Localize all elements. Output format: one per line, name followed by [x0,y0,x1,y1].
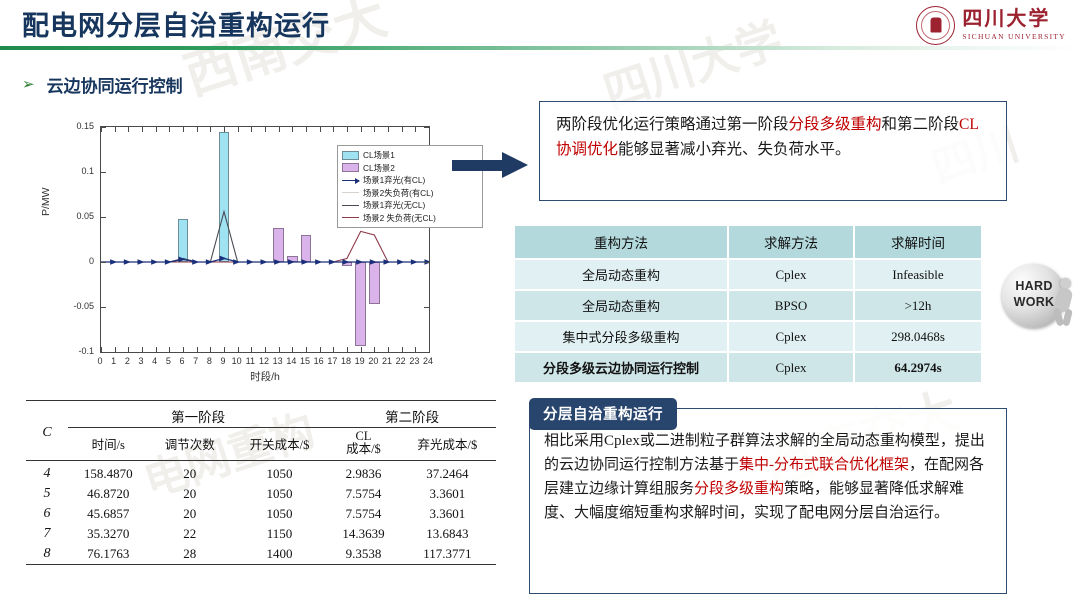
col-header-method: 重构方法 [514,225,728,259]
x-tick [101,347,102,352]
cell-adjust: 20 [148,464,230,484]
pushing-figure-icon [1054,278,1076,326]
cell-solver: Cplex [728,321,854,352]
chart-x-axis-label: 时段/h [100,369,430,384]
table-row: 735.327022115014.363913.6843 [26,524,496,544]
x-tick [224,347,225,352]
x-tick [156,347,157,352]
x-tick [128,347,129,352]
column-header-row: 时间/s 调节次数 开关成本/$ CL 成本/$ 弃光成本/$ [26,428,496,461]
col-header-switch-cost: 开关成本/$ [231,428,328,461]
stage-results-table: C 第一阶段 第二阶段 时间/s 调节次数 开关成本/$ CL 成本/$ 弃光成… [26,400,496,568]
x-tick [115,347,116,352]
x-tick [115,127,116,132]
legend-label: CL场景2 [363,162,395,174]
line-arrow-marker [411,259,418,265]
x-tick [265,347,266,352]
line-arrow-marker [151,259,158,265]
x-tick [306,127,307,132]
cell-time: 158.4870 [68,464,148,484]
stage-results-body: 4158.48702010502.983637.2464546.87202010… [26,464,496,565]
page-title: 配电网分层自治重构运行 [22,4,330,43]
cell-time: 64.2974s [854,352,982,383]
line-arrow-marker [315,259,322,265]
cell-time: 298.0468s [854,321,982,352]
logo-name-en: SICHUAN UNIVERSITY [962,32,1066,41]
col-header-time: 求解时间 [854,225,982,259]
bottom-text-seg-1: 集中-分布式联合优化框架 [739,457,909,473]
page-header: 配电网分层自治重构运行 四川大学 SICHUAN UNIVERSITY [0,0,1080,52]
top-conclusion-text: 两阶段优化运行策略通过第一阶段分段多级重构和第二阶段CL协调优化能够显著减小弃光… [556,112,992,162]
x-tick [251,127,252,132]
table-row: 645.68572010507.57543.3601 [26,504,496,524]
cell-time: >12h [854,290,982,321]
bottom-conclusion-text: 相比采用Cplex或二进制粒子群算法求解的全局动态重构模型，提出的云边协同运行控… [544,429,994,525]
legend-swatch [342,192,359,193]
y-tick [424,307,429,308]
x-tick [169,127,170,132]
cell-solver: BPSO [728,290,854,321]
legend-label: 场景2 失负荷(无CL) [363,212,436,224]
y-tick [101,172,106,173]
cell-switch-cost: 1050 [231,464,328,484]
y-tick [101,352,106,353]
cell-method: 全局动态重构 [514,259,728,290]
y-tick [101,217,106,218]
cloud-edge-chart: P/MW 时段/h CL场景1CL场景2场景1弃光(有CL)场景2失负荷(有CL… [46,112,446,380]
line-arrow-marker [343,259,350,265]
x-tick [402,347,403,352]
col-header-c: C [26,404,68,461]
x-tick [238,127,239,132]
line-arrow-marker [288,259,295,265]
x-tick [101,127,102,132]
col-header-solver: 求解方法 [728,225,854,259]
x-tick [388,347,389,352]
line-arrow-marker [274,259,281,265]
y-tick [101,307,106,308]
cell-cl-cost: 7.5754 [328,504,399,524]
line-arrow-marker [397,259,404,265]
top-text-seg-1: 分段多级重构 [789,116,882,133]
y-tick [101,262,106,263]
line-arrow-marker [261,259,268,265]
x-tick [279,127,280,132]
line-arrow-marker [356,259,363,265]
legend-swatch [342,217,359,218]
x-tick [224,127,225,132]
hard-work-sticker: HARD WORK [1002,262,1078,334]
header-divider [0,46,1080,50]
legend-item: 场景2失负荷(有CL) [342,187,478,200]
cell-cl-cost: 7.5754 [328,484,399,504]
cell-method: 分段多级云边协同运行控制 [514,352,728,383]
x-tick [197,347,198,352]
legend-swatch [342,163,359,172]
comparison-header-row: 重构方法 求解方法 求解时间 [514,225,982,259]
cell-c: 5 [26,484,68,504]
cell-pv-cost: 13.6843 [399,524,496,544]
cell-pv-cost: 3.3601 [399,484,496,504]
bullet-arrow-icon: ➢ [22,77,35,92]
x-tick [402,127,403,132]
legend-swatch [342,205,359,206]
x-tick [128,127,129,132]
x-tick [388,127,389,132]
cell-solver: Cplex [728,352,854,383]
x-tick [210,347,211,352]
x-tick [238,347,239,352]
university-logo: 四川大学 SICHUAN UNIVERSITY [916,5,1066,45]
x-tick [429,347,430,352]
x-tick [265,127,266,132]
line-arrow-marker [124,259,131,265]
x-tick [415,347,416,352]
y-tick [424,262,429,263]
comparison-table-head: 重构方法 求解方法 求解时间 [514,225,982,259]
chart-plot-area: CL场景1CL场景2场景1弃光(有CL)场景2失负荷(有CL)场景1弃光(无CL… [100,126,430,353]
cell-cl-cost: 14.3639 [328,524,399,544]
cell-pv-cost: 3.3601 [399,504,496,524]
legend-swatch [342,151,359,160]
table-rule [26,565,496,569]
x-tick [320,347,321,352]
top-text-seg-2: 和第二阶段 [882,116,960,133]
cell-c: 6 [26,504,68,524]
line-arrow-marker [138,259,145,265]
line-arrow-marker [302,259,309,265]
chart-line [101,231,429,262]
col-header-cl-cost: CL 成本/$ [328,428,399,461]
cell-pv-cost: 37.2464 [399,464,496,484]
x-tick [251,347,252,352]
x-tick [361,127,362,132]
x-tick [197,127,198,132]
cell-adjust: 20 [148,504,230,524]
cell-time: 45.6857 [68,504,148,524]
y-tick [424,352,429,353]
cell-c: 8 [26,544,68,565]
cell-switch-cost: 1050 [231,504,328,524]
legend-label: 场景1弃光(无CL) [363,199,425,211]
legend-item: 场景2 失负荷(无CL) [342,212,478,225]
col-header-adjust-count: 调节次数 [148,428,230,461]
x-tick [142,347,143,352]
x-tick [306,347,307,352]
comparison-row: 集中式分段多级重构Cplex298.0468s [514,321,982,352]
line-arrow-marker [370,259,377,265]
group-header-stage1: 第一阶段 [68,404,328,428]
university-seal-icon [916,6,955,45]
x-tick [279,347,280,352]
line-arrow-marker [220,256,227,262]
x-tick [210,127,211,132]
group-header-row: C 第一阶段 第二阶段 [26,404,496,428]
section-title: 云边协同运行控制 [47,72,183,97]
x-tick [429,127,430,132]
x-tick [292,347,293,352]
y-tick-label: 0.15 [46,121,94,131]
x-tick [183,347,184,352]
method-comparison-table: 重构方法 求解方法 求解时间 全局动态重构CplexInfeasible全局动态… [513,224,983,384]
y-tick-label: 0.1 [46,166,94,176]
cell-c: 7 [26,524,68,544]
cell-switch-cost: 1050 [231,484,328,504]
x-tick [374,127,375,132]
group-header-stage2: 第二阶段 [328,404,496,428]
cell-time: Infeasible [854,259,982,290]
legend-label: 场景2失负荷(有CL) [363,187,434,199]
cell-cl-cost: 2.9836 [328,464,399,484]
table-row: 4158.48702010502.983637.2464 [26,464,496,484]
legend-label: CL场景1 [363,149,395,161]
right-arrow-icon [452,152,528,178]
x-tick [347,127,348,132]
cell-adjust: 22 [148,524,230,544]
top-text-seg-4: 能够显著减小弃光、失负荷水平。 [618,141,851,158]
y-tick-label: 0.05 [46,211,94,221]
y-tick-label: -0.1 [46,346,94,356]
x-tick [320,127,321,132]
y-tick-label: -0.05 [46,301,94,311]
line-arrow-marker [247,259,254,265]
comparison-table-body: 全局动态重构CplexInfeasible全局动态重构BPSO>12h集中式分段… [514,259,982,383]
cell-switch-cost: 1150 [231,524,328,544]
bottom-box-tab-label: 分层自治重构运行 [529,398,677,430]
comparison-row: 全局动态重构CplexInfeasible [514,259,982,290]
cell-adjust: 20 [148,484,230,504]
line-arrow-marker [110,259,117,265]
cell-adjust: 28 [148,544,230,565]
x-tick [169,347,170,352]
bottom-conclusion-box: 相比采用Cplex或二进制粒子群算法求解的全局动态重构模型，提出的云边协同运行控… [529,408,1007,594]
cell-c: 4 [26,464,68,484]
cell-time: 46.8720 [68,484,148,504]
table-row: 876.17632814009.3538117.3771 [26,544,496,565]
x-tick [292,127,293,132]
cell-switch-cost: 1400 [231,544,328,565]
line-arrow-marker [179,257,186,263]
x-tick [374,347,375,352]
line-arrow-marker [165,259,172,265]
line-arrow-marker [206,259,213,265]
cell-time: 35.3270 [68,524,148,544]
line-arrow-marker [192,259,199,265]
col-header-time: 时间/s [68,428,148,461]
x-tick [333,347,334,352]
top-conclusion-box: 两阶段优化运行策略通过第一阶段分段多级重构和第二阶段CL协调优化能够显著减小弃光… [539,101,1007,201]
x-tick-label: 24 [419,356,437,366]
table-row: 546.87202010507.57543.3601 [26,484,496,504]
cell-method: 全局动态重构 [514,290,728,321]
logo-name-cn: 四川大学 [962,9,1066,29]
x-tick [156,127,157,132]
col-header-pv-cost: 弃光成本/$ [399,428,496,461]
cell-method: 集中式分段多级重构 [514,321,728,352]
cell-cl-cost: 9.3538 [328,544,399,565]
line-arrow-marker [329,259,336,265]
x-tick [333,127,334,132]
cell-time: 76.1763 [68,544,148,565]
cell-pv-cost: 117.3771 [399,544,496,565]
comparison-row: 分段多级云边协同运行控制Cplex64.2974s [514,352,982,383]
legend-swatch [342,180,359,181]
comparison-row: 全局动态重构BPSO>12h [514,290,982,321]
x-tick [361,347,362,352]
section-bullet: ➢ 云边协同运行控制 [22,72,183,97]
cell-solver: Cplex [728,259,854,290]
legend-item: 场景1弃光(无CL) [342,199,478,212]
x-tick [183,127,184,132]
x-tick [142,127,143,132]
legend-label: 场景1弃光(有CL) [363,174,425,186]
top-text-seg-0: 两阶段优化运行策略通过第一阶段 [556,116,789,133]
y-tick-label: 0 [46,256,94,266]
bottom-text-seg-3: 分段多级重构 [694,481,784,497]
x-tick [347,347,348,352]
x-tick [415,127,416,132]
